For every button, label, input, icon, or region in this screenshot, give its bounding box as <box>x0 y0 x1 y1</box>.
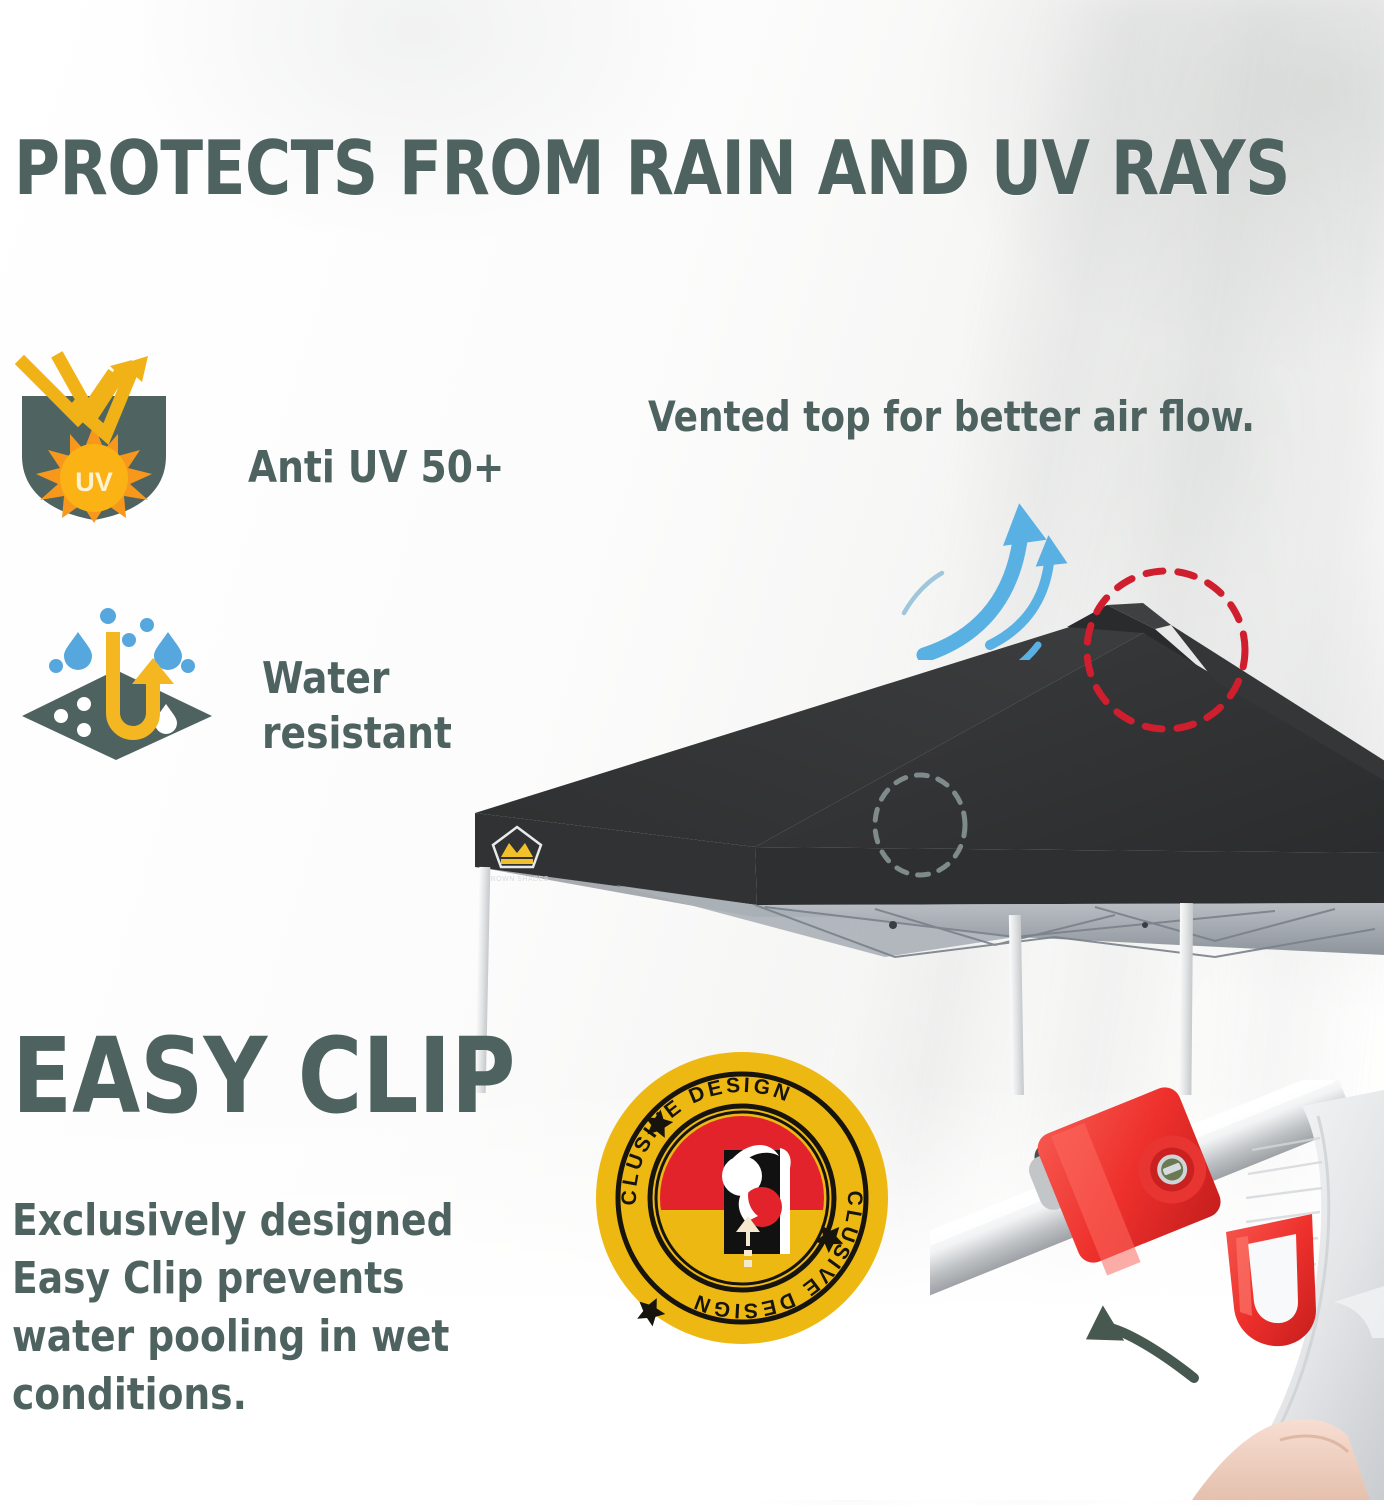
curved-arrow-icon <box>1086 1304 1194 1378</box>
water-resistant-icon <box>16 608 216 763</box>
svg-text:CROWN SHADES: CROWN SHADES <box>485 876 549 883</box>
exclusive-design-badge: EXCLUSIVE DESIGN EXCLUSIVE DESIGN <box>594 1050 890 1346</box>
uv-badge-label: UV <box>75 467 113 497</box>
gray-dashed-circle-highlight <box>868 770 972 880</box>
page-title: PROTECTS FROM RAIN AND UV RAYS <box>14 124 1290 212</box>
red-clip-on-frame-photo <box>930 1080 1384 1500</box>
water-resistant-label-line1: Water <box>262 652 452 707</box>
water-resistant-label-line2: resistant <box>262 707 452 762</box>
uv-shield-icon: UV <box>14 338 174 523</box>
anti-uv-label: Anti UV 50+ <box>248 441 504 496</box>
canopy-leg <box>1178 903 1193 1095</box>
water-resistant-label: Water resistant <box>262 652 452 761</box>
red-dashed-circle-highlight <box>1078 562 1254 738</box>
red-u-clip <box>1226 1214 1316 1346</box>
easy-clip-body: Exclusively designed Easy Clip prevents … <box>12 1192 525 1424</box>
vented-top-callout: Vented top for better air flow. <box>648 392 1255 441</box>
easy-clip-heading: EASY CLIP <box>12 1015 516 1137</box>
